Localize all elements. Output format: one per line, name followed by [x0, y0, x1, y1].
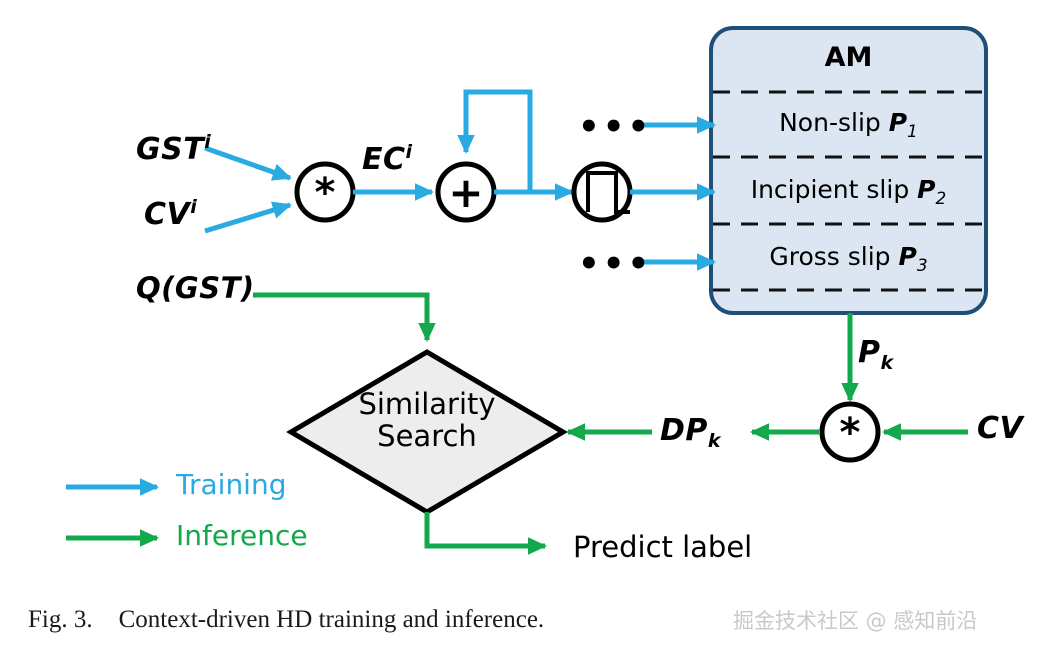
similarity-search-line1: Similarity	[358, 387, 495, 421]
diagram-canvas: * + *	[0, 0, 1043, 655]
am-row-non-slip-subscript: 1	[907, 122, 918, 142]
label-dpk-subscript: k	[708, 430, 721, 452]
arrow-cv-to-bind	[205, 205, 290, 231]
predict-label-text: Predict label	[573, 530, 752, 564]
label-cv-input: CVi	[144, 196, 197, 232]
am-row-non-slip: Non-slip P1	[711, 108, 986, 142]
figure-caption-text: Context-driven HD training and inference…	[119, 606, 545, 633]
label-ec-base: EC	[362, 142, 406, 177]
label-gst-base: GST	[136, 132, 204, 167]
legend-label-training: Training	[176, 468, 286, 501]
am-row-incipient-slip-name: Incipient slip	[751, 175, 909, 204]
figure-caption-number: Fig. 3.	[28, 606, 93, 633]
am-row-incipient-slip: Incipient slip P2	[711, 175, 986, 209]
similarity-search-line2: Search	[377, 419, 477, 453]
am-row-incipient-slip-pvar: P	[917, 175, 935, 204]
am-row-gross-slip-name: Gross slip	[769, 242, 890, 271]
am-row-gross-slip: Gross slip P3	[711, 242, 986, 276]
inference-bind-node: *	[822, 404, 878, 460]
figure-caption: Fig. 3.Context-driven HD training and in…	[28, 606, 544, 634]
label-ec-superscript: i	[406, 141, 413, 163]
label-pk-base: P	[858, 335, 881, 370]
label-pk-subscript: k	[881, 352, 894, 374]
similarity-search-label: Similarity Search	[287, 388, 567, 453]
label-gst-input: GSTi	[136, 131, 211, 167]
label-cv-inference: CV	[977, 411, 1023, 446]
step-function-node	[574, 164, 630, 220]
bundle-node: +	[438, 164, 494, 220]
inference-bind-operator-glyph: *	[840, 410, 861, 456]
bundle-operator-glyph: +	[448, 168, 483, 217]
label-cv-superscript: i	[190, 196, 197, 218]
legend-label-inference: Inference	[176, 519, 308, 552]
bind-operator-glyph: *	[315, 170, 336, 216]
arrow-qgst-to-similarity-search	[253, 295, 427, 340]
am-row-gross-slip-subscript: 3	[917, 256, 928, 276]
ellipsis-bottom: •••	[578, 247, 652, 281]
label-dpk: DPk	[660, 413, 721, 452]
label-dpk-base: DP	[660, 413, 708, 448]
am-row-non-slip-pvar: P	[889, 108, 907, 137]
am-row-non-slip-name: Non-slip	[779, 108, 881, 137]
label-q-gst: Q(GST)	[136, 271, 255, 305]
watermark-text: 掘金技术社区 @ 感知前沿	[733, 605, 977, 635]
am-row-gross-slip-pvar: P	[898, 242, 916, 271]
figure-container: * + *	[0, 0, 1043, 655]
label-gst-superscript: i	[204, 131, 211, 153]
arrow-gst-to-bind	[205, 148, 290, 178]
ellipsis-top: •••	[578, 110, 652, 144]
label-pk: Pk	[858, 335, 894, 374]
arrow-similarity-search-to-predict-label	[427, 512, 545, 546]
bind-node: *	[297, 164, 353, 220]
label-ec-encoded: ECi	[362, 141, 413, 177]
am-title: AM	[711, 42, 986, 73]
label-cv-base: CV	[144, 197, 190, 232]
am-row-incipient-slip-subscript: 2	[935, 189, 946, 209]
